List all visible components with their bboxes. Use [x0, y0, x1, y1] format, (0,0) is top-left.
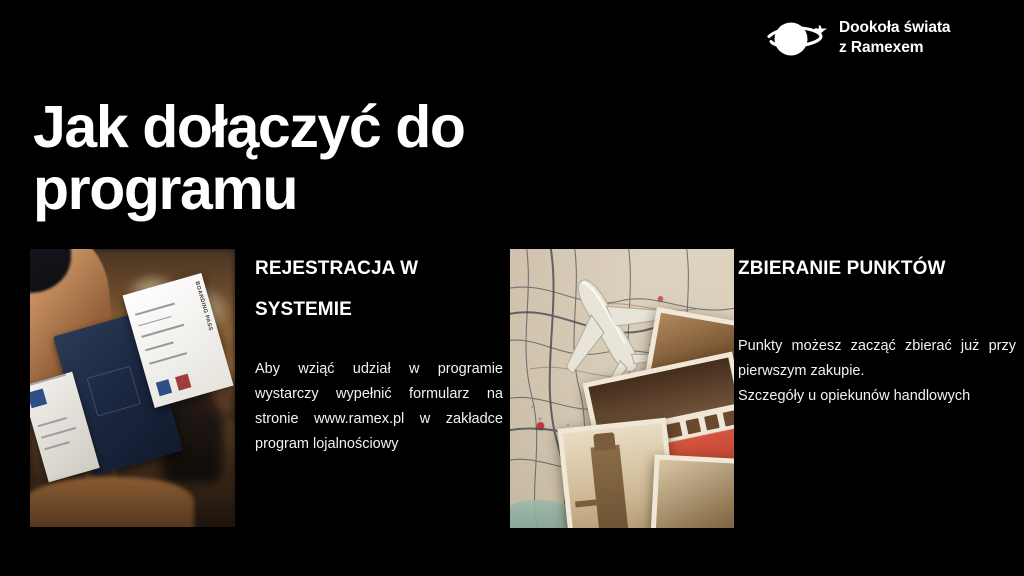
column-body-registration: Aby wziąć udział w programie wystarczy w…	[255, 357, 503, 457]
photo-registration: BOARDING PASS	[30, 249, 235, 527]
column-points-text: ZBIERANIE PUNKTÓW Punkty możesz zacząć z…	[738, 249, 1016, 409]
brand-logo: Dookoła świata z Ramexem	[765, 12, 1010, 64]
leather-bag	[30, 477, 194, 527]
brand-logo-line-1: Dookoła świata	[839, 18, 950, 38]
airport-scene: BOARDING PASS	[30, 249, 235, 527]
photo-points	[510, 249, 734, 528]
brand-logo-line-2: z Ramexem	[839, 38, 950, 58]
column-heading-registration: REJESTRACJA W SYSTEMIE	[255, 249, 503, 331]
column-heading-points: ZBIERANIE PUNKTÓW	[738, 249, 1016, 290]
map-pin	[537, 422, 544, 429]
column-body-points: Punkty możesz zacząć zbierać już przy pi…	[738, 334, 1016, 409]
tower-bridge	[590, 445, 629, 528]
map-scene	[510, 249, 734, 528]
column-registration-text: REJESTRACJA W SYSTEMIE Aby wziąć udział …	[255, 249, 503, 456]
brand-logo-text: Dookoła świata z Ramexem	[839, 18, 950, 58]
slide-root: Dookoła świata z Ramexem Jak dołączyć do…	[0, 0, 1024, 576]
globe-airplane-icon	[765, 15, 829, 61]
column-body-points-line-2: Szczegóły u opiekunów handlowych	[738, 384, 1016, 409]
column-body-points-line-1: Punkty możesz zacząć zbierać już przy pi…	[738, 338, 1016, 379]
slide-title-line-2: programu	[33, 156, 297, 222]
vintage-photo	[650, 454, 734, 528]
slide-title: Jak dołączyć do programu	[33, 96, 653, 221]
slide-title-line-1: Jak dołączyć do	[33, 94, 465, 160]
